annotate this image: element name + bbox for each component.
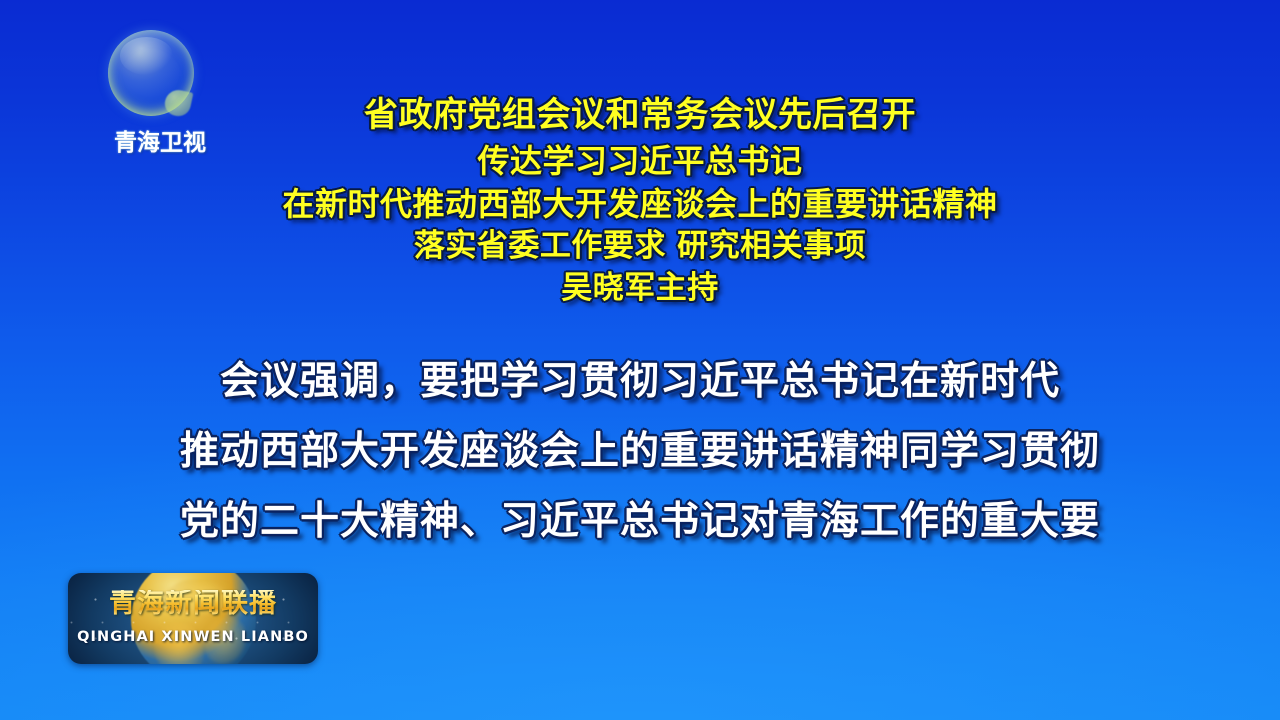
program-badge: 青海新闻联播 QINGHAI XINWEN LIANBO	[68, 573, 318, 664]
subtitle-line-2: 推动西部大开发座谈会上的重要讲话精神同学习贯彻	[0, 432, 1280, 471]
subtitle-line-3: 党的二十大精神、习近平总书记对青海工作的重大要	[0, 502, 1280, 541]
subtitle-block: 会议强调，要把学习贯彻习近平总书记在新时代 推动西部大开发座谈会上的重要讲话精神…	[0, 362, 1280, 541]
headline-line-4: 落实省委工作要求 研究相关事项	[0, 231, 1280, 262]
headline-line-3: 在新时代推动西部大开发座谈会上的重要讲话精神	[0, 188, 1280, 220]
program-title-cn: 青海新闻联播	[68, 590, 318, 617]
headline-line-1: 省政府党组会议和常务会议先后召开	[0, 98, 1280, 132]
broadcast-screen: 青海卫视 省政府党组会议和常务会议先后召开 传达学习习近平总书记 在新时代推动西…	[0, 0, 1280, 720]
headline-line-2: 传达学习习近平总书记	[0, 145, 1280, 177]
subtitle-line-1: 会议强调，要把学习贯彻习近平总书记在新时代	[0, 362, 1280, 401]
headline-block: 省政府党组会议和常务会议先后召开 传达学习习近平总书记 在新时代推动西部大开发座…	[0, 98, 1280, 304]
program-title-en: QINGHAI XINWEN LIANBO	[68, 629, 318, 645]
headline-line-5: 吴晓军主持	[0, 273, 1280, 304]
